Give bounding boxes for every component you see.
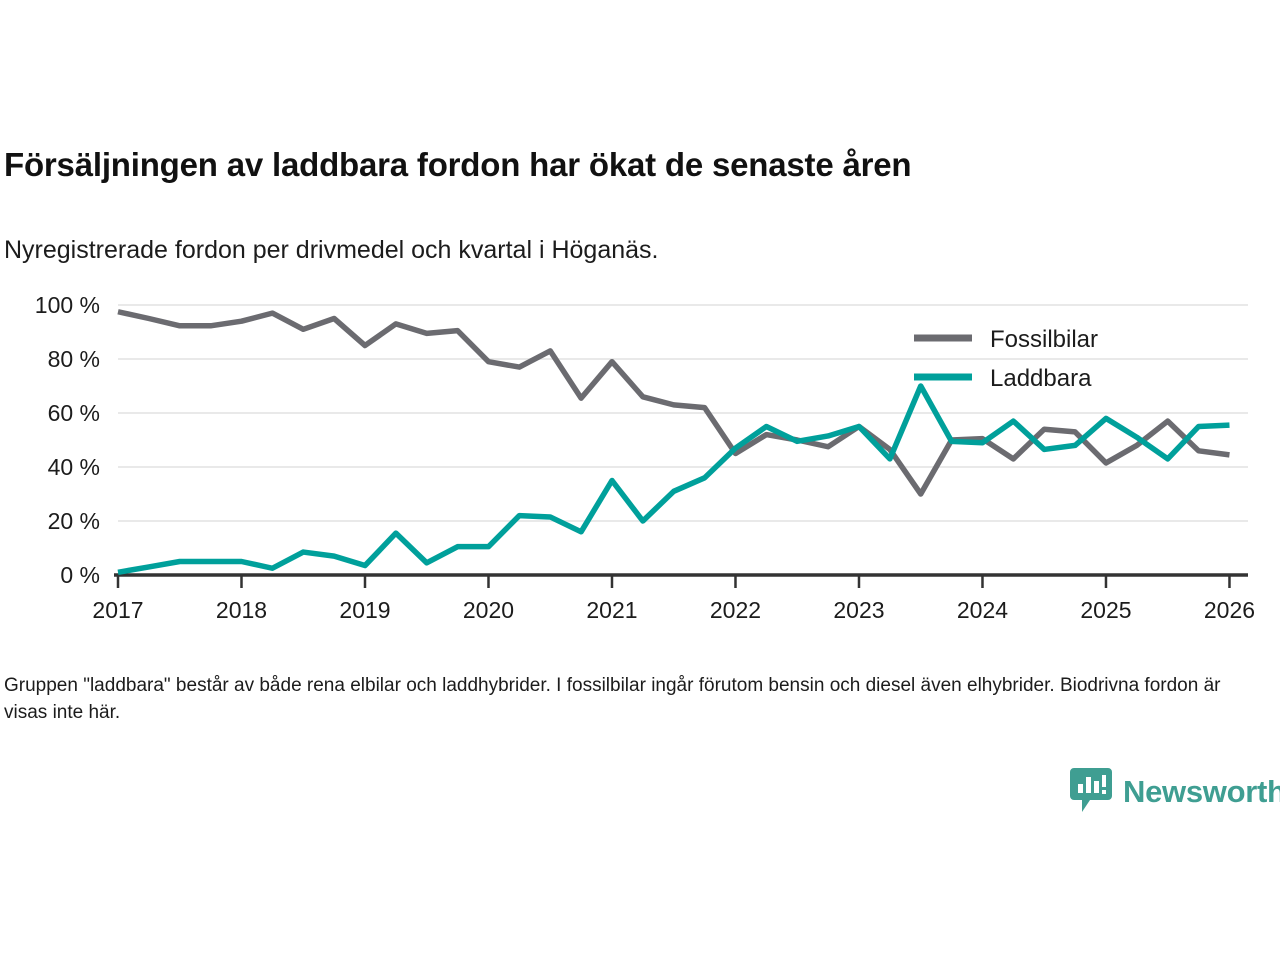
x-tick-label: 2018 <box>216 597 267 623</box>
y-tick-label: 80 % <box>48 346 100 372</box>
legend-label: Laddbara <box>990 365 1092 392</box>
y-tick-label: 100 % <box>35 292 100 318</box>
bar-chart-speech-bubble-icon <box>1070 766 1112 819</box>
x-tick-label: 2024 <box>957 597 1008 623</box>
legend-label: Fossilbilar <box>990 326 1098 353</box>
chart-footnote: Gruppen "laddbara" består av både rena e… <box>4 672 1234 726</box>
newsworthy-logo[interactable]: Newsworthy <box>1070 768 1280 816</box>
x-axis-line <box>114 575 1248 588</box>
x-tick-label: 2022 <box>710 597 761 623</box>
y-tick-label: 20 % <box>48 508 100 534</box>
x-tick-label: 2017 <box>92 597 143 623</box>
logo-wordmark: Newsworthy <box>1123 774 1280 810</box>
chart-page: Försäljningen av laddbara fordon har öka… <box>0 0 1280 960</box>
y-tick-label: 40 % <box>48 454 100 480</box>
line-chart: 100 %80 %60 %40 %20 %0 % 201720182019202… <box>0 280 1280 630</box>
y-axis-tick-labels: 100 %80 %60 %40 %20 %0 % <box>35 292 100 588</box>
y-tick-label: 60 % <box>48 400 100 426</box>
chart-title: Försäljningen av laddbara fordon har öka… <box>4 146 911 184</box>
x-tick-label: 2021 <box>586 597 637 623</box>
x-tick-label: 2019 <box>339 597 390 623</box>
x-tick-label: 2023 <box>833 597 884 623</box>
chart-subtitle: Nyregistrerade fordon per drivmedel och … <box>4 236 658 265</box>
y-tick-label: 0 % <box>60 562 100 588</box>
x-tick-label: 2026 <box>1204 597 1255 623</box>
x-tick-label: 2020 <box>463 597 514 623</box>
x-tick-label: 2025 <box>1080 597 1131 623</box>
x-axis-tick-labels: 2017201820192020202120222023202420252026 <box>92 597 1255 623</box>
chart-plot-area: 100 %80 %60 %40 %20 %0 % 201720182019202… <box>0 280 1280 630</box>
